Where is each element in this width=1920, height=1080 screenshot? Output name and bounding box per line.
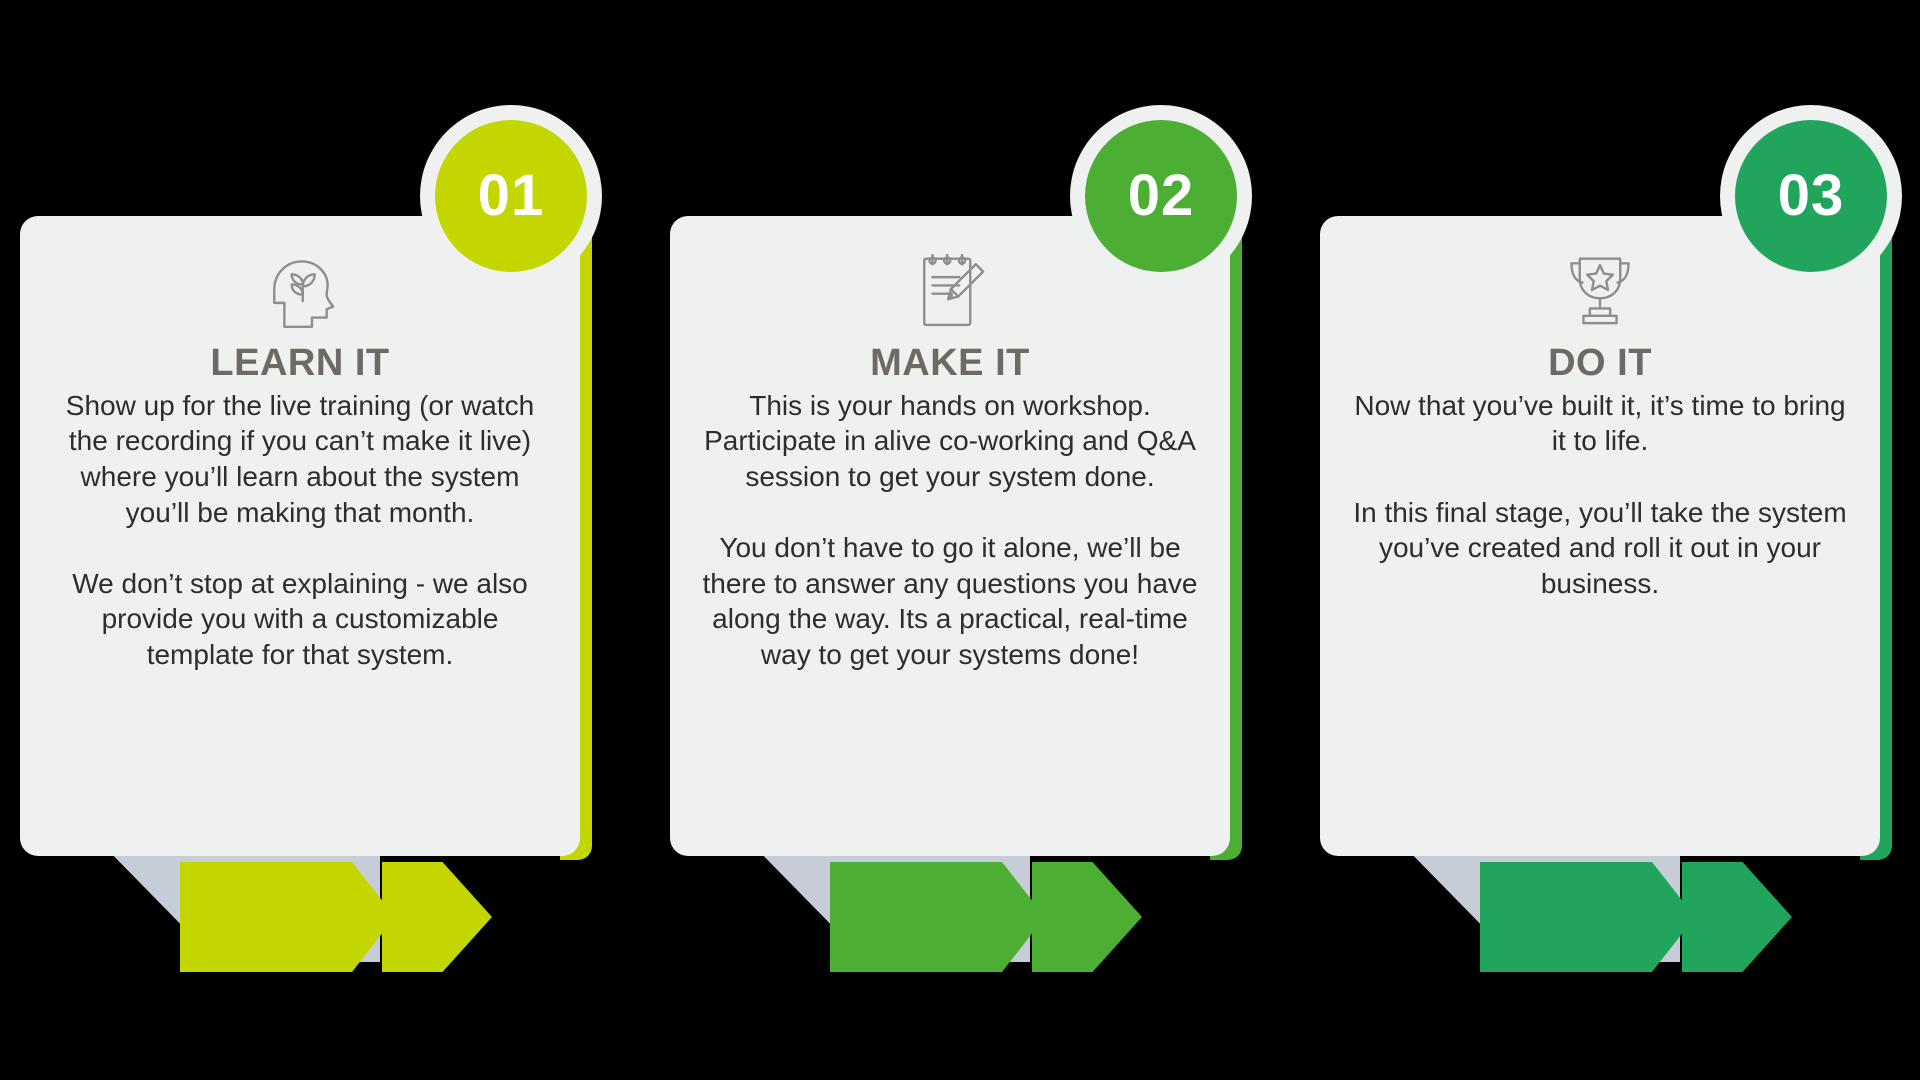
step-title-1: LEARN IT xyxy=(210,344,389,384)
step-body-2: This is your hands on workshop. Particip… xyxy=(700,388,1200,672)
step-number-badge-2: 02 xyxy=(1070,105,1252,287)
step-card-panel-3: DO IT Now that you’ve built it, it’s tim… xyxy=(1320,216,1880,856)
step-title-2: MAKE IT xyxy=(870,344,1030,384)
step-number-badge-1: 01 xyxy=(420,105,602,287)
step-arrow-ribbon-3 xyxy=(1480,862,1790,972)
head-with-sprout-icon xyxy=(254,244,346,336)
step-number-2: 02 xyxy=(1128,167,1195,225)
arrow-body-icon-3 xyxy=(1480,862,1695,972)
step-card-3: DO IT Now that you’ve built it, it’s tim… xyxy=(1300,0,1920,1080)
notepad-pencil-icon xyxy=(904,244,996,336)
step-body-1: Show up for the live training (or watch … xyxy=(50,388,550,672)
arrow-body-icon-1 xyxy=(180,862,395,972)
step-card-2: MAKE IT This is your hands on workshop. … xyxy=(650,0,1290,1080)
step-title-3: DO IT xyxy=(1548,344,1652,384)
arrow-body-icon-2 xyxy=(830,862,1045,972)
trophy-icon xyxy=(1554,244,1646,336)
chevron-icon-3 xyxy=(1682,862,1792,972)
step-card-panel-1: LEARN IT Show up for the live training (… xyxy=(20,216,580,856)
chevron-icon-2 xyxy=(1032,862,1142,972)
step-number-badge-3: 03 xyxy=(1720,105,1902,287)
chevron-icon-1 xyxy=(382,862,492,972)
step-arrow-ribbon-1 xyxy=(180,862,490,972)
step-number-3: 03 xyxy=(1778,167,1845,225)
step-card-panel-2: MAKE IT This is your hands on workshop. … xyxy=(670,216,1230,856)
step-number-badge-fill-3: 03 xyxy=(1735,120,1887,272)
step-number-1: 01 xyxy=(478,167,545,225)
step-body-3: Now that you’ve built it, it’s time to b… xyxy=(1350,388,1850,601)
step-number-badge-fill-2: 02 xyxy=(1085,120,1237,272)
step-arrow-ribbon-2 xyxy=(830,862,1140,972)
step-number-badge-fill-1: 01 xyxy=(435,120,587,272)
infographic-stage: LEARN IT Show up for the live training (… xyxy=(0,0,1920,1080)
step-card-1: LEARN IT Show up for the live training (… xyxy=(0,0,640,1080)
